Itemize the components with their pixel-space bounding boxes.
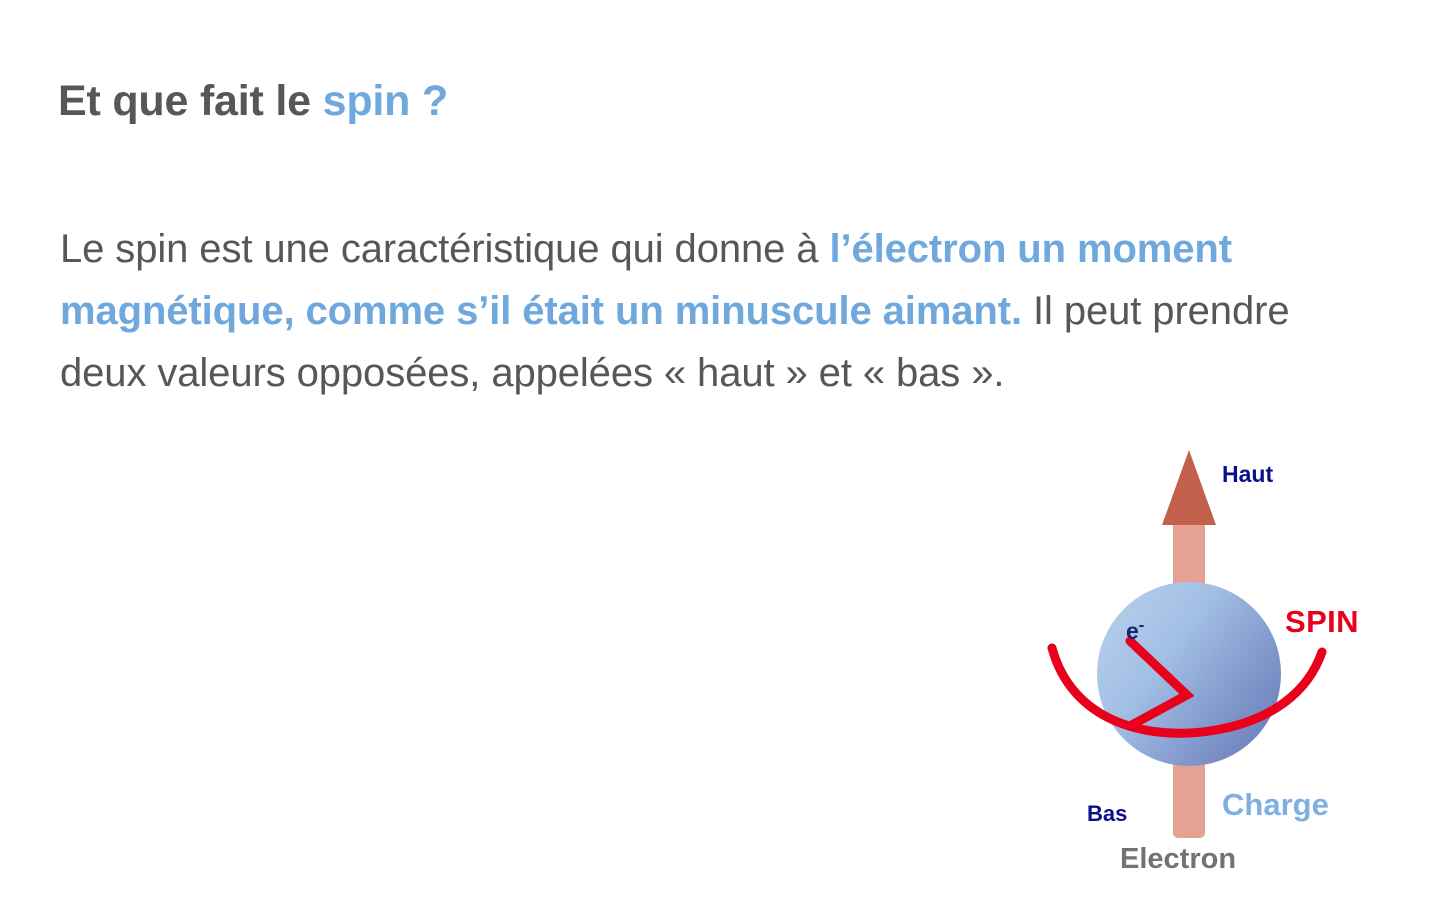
electron-spin-diagram (1020, 430, 1440, 900)
label-spin: SPIN (1285, 606, 1359, 637)
label-charge: Charge (1222, 789, 1329, 820)
label-bas: Bas (1087, 803, 1127, 825)
electron-spin-svg (1020, 430, 1440, 900)
page-title: Et que fait le spin ? (58, 77, 1338, 127)
label-electron-symbol: e- (1126, 620, 1144, 643)
arrow-head-up-icon (1162, 450, 1216, 525)
electron-symbol-charge: - (1139, 615, 1145, 634)
page-title-accent: spin ? (323, 77, 448, 125)
body-part-1: Le spin est une caractéristique qui donn… (60, 227, 829, 271)
page-title-text: Et que fait le (58, 77, 323, 125)
electron-symbol-letter: e (1126, 618, 1139, 644)
body-paragraph: Le spin est une caractéristique qui donn… (60, 218, 1330, 404)
electron-sphere (1097, 582, 1281, 766)
label-haut: Haut (1222, 463, 1273, 486)
slide-canvas: Et que fait le spin ? Le spin est une ca… (0, 0, 1440, 900)
label-electron: Electron (1120, 845, 1236, 874)
